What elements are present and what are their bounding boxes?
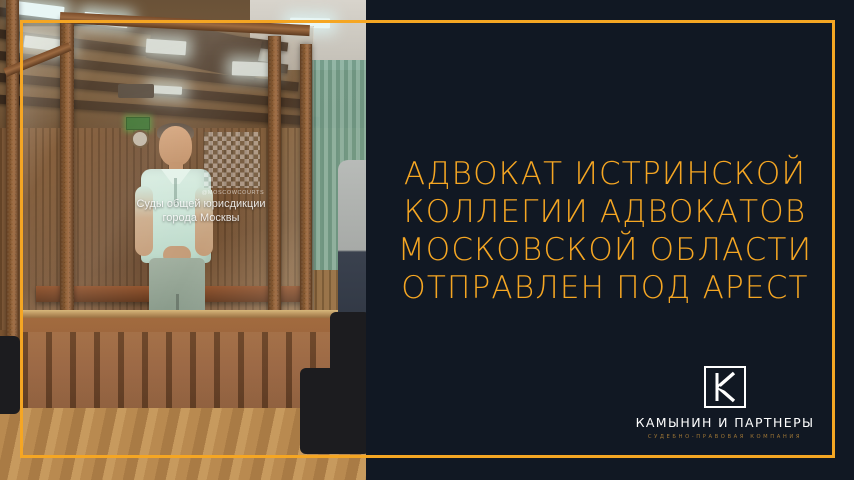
news-card-banner: @MOSCOWCOURTS Суды общей юрисдикции горо… — [0, 0, 854, 480]
watermark-handle: @MOSCOWCOURTS — [198, 190, 268, 196]
kamynin-k-monogram-icon — [704, 366, 746, 408]
headline-line-2: КОЛЛЕГИИ АДВОКАТОВ — [380, 193, 830, 231]
courtroom-chair — [330, 312, 366, 374]
courtroom-photo: @MOSCOWCOURTS Суды общей юрисдикции горо… — [0, 0, 366, 480]
brand-logo: КАМЫНИН И ПАРТНЕРЫ СУДЕБНО-ПРАВОВАЯ КОМП… — [610, 366, 840, 440]
logo-tagline: СУДЕБНО-ПРАВОВАЯ КОМПАНИЯ — [610, 434, 840, 440]
headline-line-4: ОТПРАВЛЕН ПОД АРЕСТ — [380, 269, 830, 307]
cage-post-right — [300, 44, 312, 334]
logo-company-name: КАМЫНИН И ПАРТНЕРЫ — [610, 415, 840, 430]
person-head — [159, 126, 192, 166]
headline-line-1: АДВОКАТ ИСТРИНСКОЙ — [380, 155, 830, 193]
headline: АДВОКАТ ИСТРИНСКОЙ КОЛЛЕГИИ АДВОКАТОВ МО… — [380, 155, 830, 307]
watermark-line-1: Суды общей юрисдикции — [96, 197, 306, 211]
courtroom-chair — [0, 336, 20, 414]
watermark-text: Суды общей юрисдикции города Москвы — [96, 197, 306, 225]
qr-code-icon — [204, 132, 260, 188]
headline-line-3: МОСКОВСКОЙ ОБЛАСТИ — [380, 231, 830, 269]
courtroom-chair — [300, 368, 366, 454]
cage-post-center — [268, 36, 281, 336]
watermark-line-2: города Москвы — [96, 211, 306, 225]
